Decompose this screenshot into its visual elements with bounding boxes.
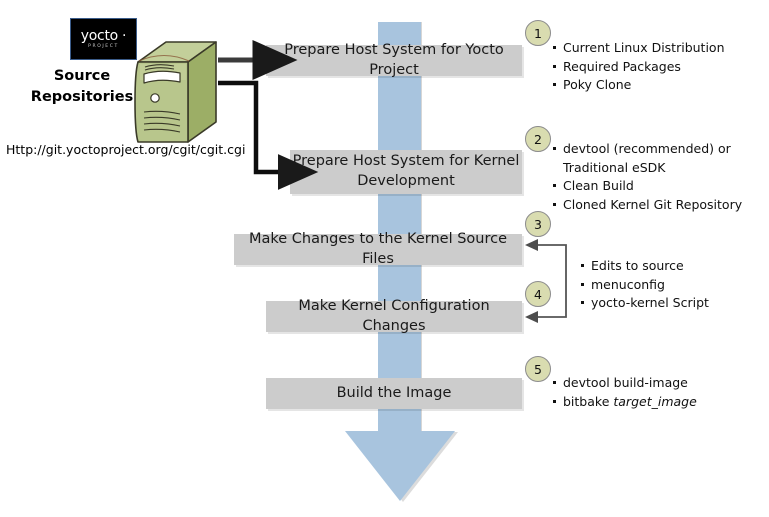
process-box-4-label: Make Kernel Configuration Changes xyxy=(266,297,522,336)
list-item: menuconfig xyxy=(580,276,766,295)
list-item: devtool build-image xyxy=(552,374,764,393)
diagram-canvas: yocto · PROJECT Source Repositories Http… xyxy=(0,0,769,517)
bitbake-command-prefix: bitbake xyxy=(563,394,613,409)
step-number-2: 2 xyxy=(525,126,551,152)
step-number-1: 1 xyxy=(525,20,551,46)
source-repositories-label: Source Repositories xyxy=(30,66,134,108)
process-box-1-label: Prepare Host System for Yocto Project xyxy=(266,41,522,80)
flow-arrow-shaft xyxy=(378,22,422,432)
process-box-4[interactable]: Make Kernel Configuration Changes xyxy=(266,301,522,332)
process-box-1[interactable]: Prepare Host System for Yocto Project xyxy=(266,45,522,76)
step-number-2-label: 2 xyxy=(534,132,542,147)
list-item: devtool (recommended) or Traditional eSD… xyxy=(552,140,764,177)
logo-wordmark: yocto · xyxy=(81,29,126,43)
step-5-bullets: devtool build-image bitbake target_image xyxy=(552,374,764,411)
step-number-3: 3 xyxy=(525,211,551,237)
server-icon xyxy=(134,40,220,145)
yocto-project-logo: yocto · PROJECT xyxy=(70,18,137,60)
step-1-bullets: Current Linux Distribution Required Pack… xyxy=(552,39,764,95)
list-item: Poky Clone xyxy=(552,76,764,95)
process-box-2[interactable]: Prepare Host System for Kernel Developme… xyxy=(290,150,522,194)
step-number-5: 5 xyxy=(525,356,551,382)
flow-arrow-head xyxy=(345,431,455,501)
step-number-1-label: 1 xyxy=(534,26,542,41)
step-number-5-label: 5 xyxy=(534,362,542,377)
list-item: Required Packages xyxy=(552,58,764,77)
list-item: yocto-kernel Script xyxy=(580,294,766,313)
list-item: bitbake target_image xyxy=(552,393,764,412)
logo-subtitle: PROJECT xyxy=(88,45,119,50)
process-box-5-label: Build the Image xyxy=(337,384,452,404)
process-box-5[interactable]: Build the Image xyxy=(266,378,522,409)
list-item: Clean Build xyxy=(552,177,764,196)
list-item: Cloned Kernel Git Repository xyxy=(552,196,764,215)
step-2-bullets: devtool (recommended) or Traditional eSD… xyxy=(552,140,764,214)
process-box-3-label: Make Changes to the Kernel Source Files xyxy=(234,230,522,269)
process-box-2-label: Prepare Host System for Kernel Developme… xyxy=(290,152,522,191)
bitbake-target-image: target_image xyxy=(613,394,696,409)
list-item: Current Linux Distribution xyxy=(552,39,764,58)
step-number-3-label: 3 xyxy=(534,217,542,232)
list-item: Edits to source xyxy=(580,257,766,276)
process-box-3[interactable]: Make Changes to the Kernel Source Files xyxy=(234,234,522,265)
steps-3-4-bullets: Edits to source menuconfig yocto-kernel … xyxy=(580,257,766,313)
step-number-4-label: 4 xyxy=(534,287,542,302)
step-number-4: 4 xyxy=(525,281,551,307)
